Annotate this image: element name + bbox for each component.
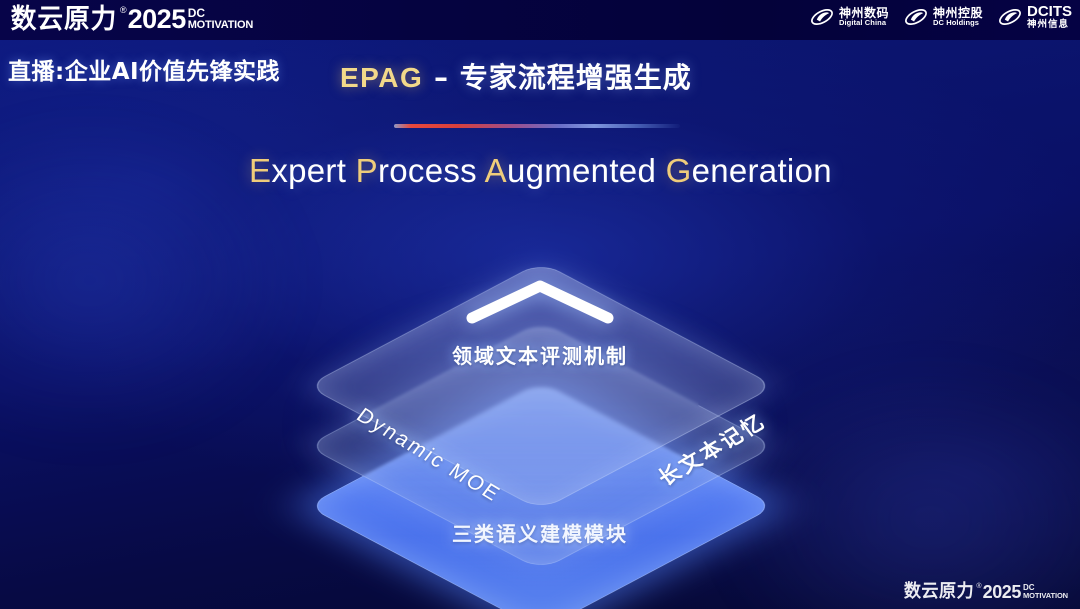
subtitle-space-3 — [656, 152, 665, 189]
watermark-registered-mark: ® — [976, 583, 981, 590]
brand-logo: 数云原力®2025 DC MOTIVATION — [8, 4, 253, 34]
slide-canvas: 数云原力®2025 DC MOTIVATION 直播:企业AI价值先锋实践 神州… — [0, 0, 1080, 609]
partner-name-cn: DCITS — [1027, 4, 1072, 20]
swirl-icon — [903, 5, 929, 29]
subtitle-cap-p: P — [356, 152, 378, 189]
page-title: EPAG – 专家流程增强生成 — [340, 56, 692, 96]
watermark-dc-motivation: DC MOTIVATION — [1023, 584, 1068, 600]
watermark-name-cn: 数云原力 — [904, 583, 974, 601]
swirl-icon — [997, 5, 1023, 29]
title-divider — [394, 124, 680, 128]
subtitle-cap-e: E — [249, 152, 271, 189]
partner-name-en: 神州信息 — [1027, 20, 1072, 30]
footer-watermark-logo: 数云原力®2025 DC MOTIVATION — [902, 583, 1068, 601]
subtitle-rest-augmented: ugmented — [507, 152, 656, 189]
partner-name-en: DC Holdings — [933, 19, 983, 27]
layered-architecture-diagram: 领域文本评测机制 Dynamic MOE 长文本记忆 三类语义建模模块 — [290, 228, 790, 578]
title-separator: – — [423, 61, 460, 94]
subtitle-cap-g: G — [666, 152, 692, 189]
brand-motivation-text: MOTIVATION — [188, 20, 253, 32]
subtitle-space-1 — [346, 152, 355, 189]
subtitle-space-2 — [477, 152, 485, 189]
partner-logo-dcits: DCITS 神州信息 — [997, 4, 1072, 30]
partner-logo-group: 神州数码 Digital China 神州控股 DC Holdings DCIT… — [809, 4, 1072, 30]
watermark-motivation-text: MOTIVATION — [1023, 592, 1068, 600]
title-name-cn: 专家流程增强生成 — [460, 61, 692, 94]
partner-label: DCITS 神州信息 — [1027, 4, 1072, 30]
partner-label: 神州控股 DC Holdings — [933, 7, 983, 27]
layer-label-top: 领域文本评测机制 — [452, 340, 628, 369]
brand-year: 2025 — [128, 6, 186, 33]
live-stream-title: 直播:企业AI价值先锋实践 — [8, 52, 280, 86]
brand-name-cn: 数云原力 — [11, 6, 117, 33]
partner-logo-dc-holdings: 神州控股 DC Holdings — [903, 5, 983, 29]
chevron-up-icon — [460, 274, 620, 328]
partner-logo-digital-china: 神州数码 Digital China — [809, 5, 889, 29]
brand-registered-mark: ® — [120, 5, 127, 15]
subtitle-rest-generation: eneration — [692, 152, 832, 189]
brand-dc-text: DC — [188, 7, 253, 20]
brand-dc-motivation: DC MOTIVATION — [188, 7, 253, 31]
partner-label: 神州数码 Digital China — [839, 7, 889, 27]
title-acronym: EPAG — [340, 62, 423, 93]
subtitle-rest-process: rocess — [378, 152, 477, 189]
subtitle-cap-a: A — [485, 152, 507, 189]
partner-name-en: Digital China — [839, 19, 889, 27]
subtitle-rest-expert: xpert — [271, 152, 346, 189]
watermark-year: 2025 — [983, 583, 1021, 601]
layer-label-bottom: 三类语义建模模块 — [452, 518, 628, 547]
subtitle-expansion: Expert Process Augmented Generation — [249, 152, 832, 190]
swirl-icon — [809, 5, 835, 29]
